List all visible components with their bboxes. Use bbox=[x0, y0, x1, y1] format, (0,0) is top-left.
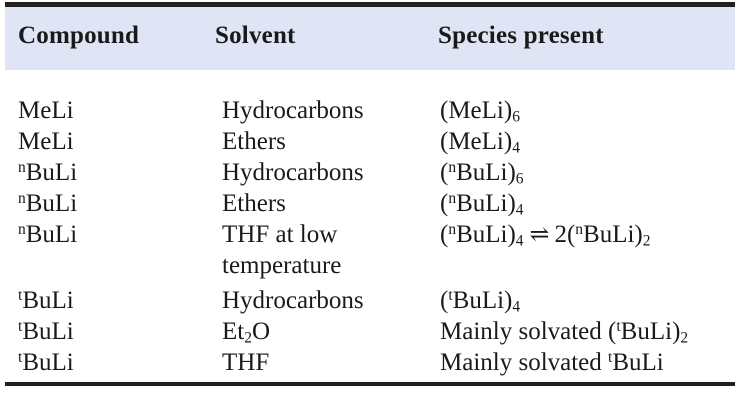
cell-species: (nBuLi)4⇌2(nBuLi)2 bbox=[440, 219, 651, 250]
species-text: (MeLi) bbox=[440, 97, 512, 124]
species-text: BuLi) bbox=[456, 190, 516, 217]
compound-text: MeLi bbox=[18, 97, 74, 124]
compound-text: BuLi bbox=[22, 349, 73, 376]
compound-superscript: n bbox=[18, 159, 26, 176]
species-tail-text: 2( bbox=[554, 221, 575, 248]
cell-solvent: Hydrocarbons bbox=[222, 95, 364, 126]
cell-species: (tBuLi)4 bbox=[440, 285, 520, 316]
species-subscript: 4 bbox=[516, 232, 524, 249]
equilibrium-arrow-icon: ⇌ bbox=[524, 220, 555, 248]
cell-compound: tBuLi bbox=[18, 316, 74, 347]
table-row: nBuLi THF at low (nBuLi)4⇌2(nBuLi)2 bbox=[0, 219, 749, 250]
cell-solvent: THF bbox=[222, 347, 269, 378]
species-tail-superscript: n bbox=[575, 221, 583, 238]
cell-compound: MeLi bbox=[18, 95, 74, 126]
species-superscript: n bbox=[448, 190, 456, 207]
cell-solvent: Hydrocarbons bbox=[222, 285, 364, 316]
species-text: BuLi) bbox=[453, 287, 513, 314]
species-text: BuLi) bbox=[621, 318, 681, 345]
compound-text: BuLi bbox=[22, 287, 73, 314]
species-subscript: 4 bbox=[512, 298, 520, 315]
table-row: MeLi Hydrocarbons (MeLi)6 bbox=[0, 95, 749, 126]
species-superscript: n bbox=[448, 159, 456, 176]
cell-compound: tBuLi bbox=[18, 285, 74, 316]
cell-compound: nBuLi bbox=[18, 219, 77, 250]
compound-text: BuLi bbox=[26, 221, 77, 248]
solvent-continuation-line: temperature bbox=[222, 250, 341, 281]
solvent-text: Ethers bbox=[222, 128, 286, 155]
solvent-subscript: 2 bbox=[244, 329, 252, 346]
table-header-band: Compound Solvent Species present bbox=[5, 7, 735, 70]
cell-species: Mainly solvated tBuLi bbox=[440, 347, 664, 378]
table-row: MeLi Ethers (MeLi)4 bbox=[0, 126, 749, 157]
column-header-species-present: Species present bbox=[438, 21, 604, 51]
species-subscript: 4 bbox=[512, 139, 520, 156]
species-subscript: 4 bbox=[516, 201, 524, 218]
solvent-text: THF at low bbox=[222, 221, 337, 248]
species-mid-text: BuLi bbox=[612, 349, 663, 376]
cell-solvent: Et2O bbox=[222, 316, 270, 347]
column-header-solvent: Solvent bbox=[215, 21, 296, 51]
species-subscript: 6 bbox=[512, 108, 520, 125]
table-row: tBuLi Hydrocarbons (tBuLi)4 bbox=[0, 285, 749, 316]
cell-species: (nBuLi)6 bbox=[440, 157, 524, 188]
compound-solvent-species-table: Compound Solvent Species present MeLi Hy… bbox=[0, 0, 749, 400]
cell-solvent: Ethers bbox=[222, 188, 286, 219]
species-open-paren: Mainly solvated ( bbox=[440, 318, 616, 345]
cell-compound: nBuLi bbox=[18, 188, 77, 219]
species-tail-subscript: 2 bbox=[643, 232, 651, 249]
species-tail-mid: BuLi) bbox=[583, 221, 643, 248]
solvent-text: Hydrocarbons bbox=[222, 97, 364, 124]
compound-text: MeLi bbox=[18, 128, 74, 155]
species-superscript: n bbox=[448, 221, 456, 238]
table-body: MeLi Hydrocarbons (MeLi)6 MeLi Ethers (M… bbox=[0, 70, 749, 382]
species-text: BuLi) bbox=[456, 221, 516, 248]
table-row: nBuLi Ethers (nBuLi)4 bbox=[0, 188, 749, 219]
solvent-text: Et bbox=[222, 318, 244, 345]
table-bottom-rule bbox=[5, 382, 735, 386]
compound-text: BuLi bbox=[26, 159, 77, 186]
column-header-compound: Compound bbox=[18, 21, 139, 51]
solvent-text: THF bbox=[222, 349, 269, 376]
cell-solvent: Ethers bbox=[222, 126, 286, 157]
cell-compound: tBuLi bbox=[18, 347, 74, 378]
solvent-post-text: O bbox=[252, 318, 270, 345]
cell-species: (MeLi)6 bbox=[440, 95, 520, 126]
solvent-text: Hydrocarbons bbox=[222, 287, 364, 314]
solvent-text: Hydrocarbons bbox=[222, 159, 364, 186]
species-subscript: 2 bbox=[680, 329, 688, 346]
compound-superscript: n bbox=[18, 190, 26, 207]
cell-species: (MeLi)4 bbox=[440, 126, 520, 157]
solvent-text: Ethers bbox=[222, 190, 286, 217]
table-header-row: Compound Solvent Species present bbox=[5, 7, 735, 70]
table-row: nBuLi Hydrocarbons (nBuLi)6 bbox=[0, 157, 749, 188]
cell-species: (nBuLi)4 bbox=[440, 188, 524, 219]
compound-superscript: n bbox=[18, 221, 26, 238]
table-row: tBuLi THF Mainly solvated tBuLi bbox=[0, 347, 749, 378]
species-text: Mainly solvated bbox=[440, 349, 608, 376]
cell-compound: MeLi bbox=[18, 126, 74, 157]
species-text: BuLi) bbox=[456, 159, 516, 186]
cell-solvent: Hydrocarbons bbox=[222, 157, 364, 188]
cell-compound: nBuLi bbox=[18, 157, 77, 188]
species-subscript: 6 bbox=[516, 170, 524, 187]
cell-solvent: THF at low bbox=[222, 219, 337, 250]
compound-text: BuLi bbox=[22, 318, 73, 345]
species-text: (MeLi) bbox=[440, 128, 512, 155]
table-row: tBuLi Et2O Mainly solvated (tBuLi)2 bbox=[0, 316, 749, 347]
cell-species: Mainly solvated (tBuLi)2 bbox=[440, 316, 688, 347]
compound-text: BuLi bbox=[26, 190, 77, 217]
